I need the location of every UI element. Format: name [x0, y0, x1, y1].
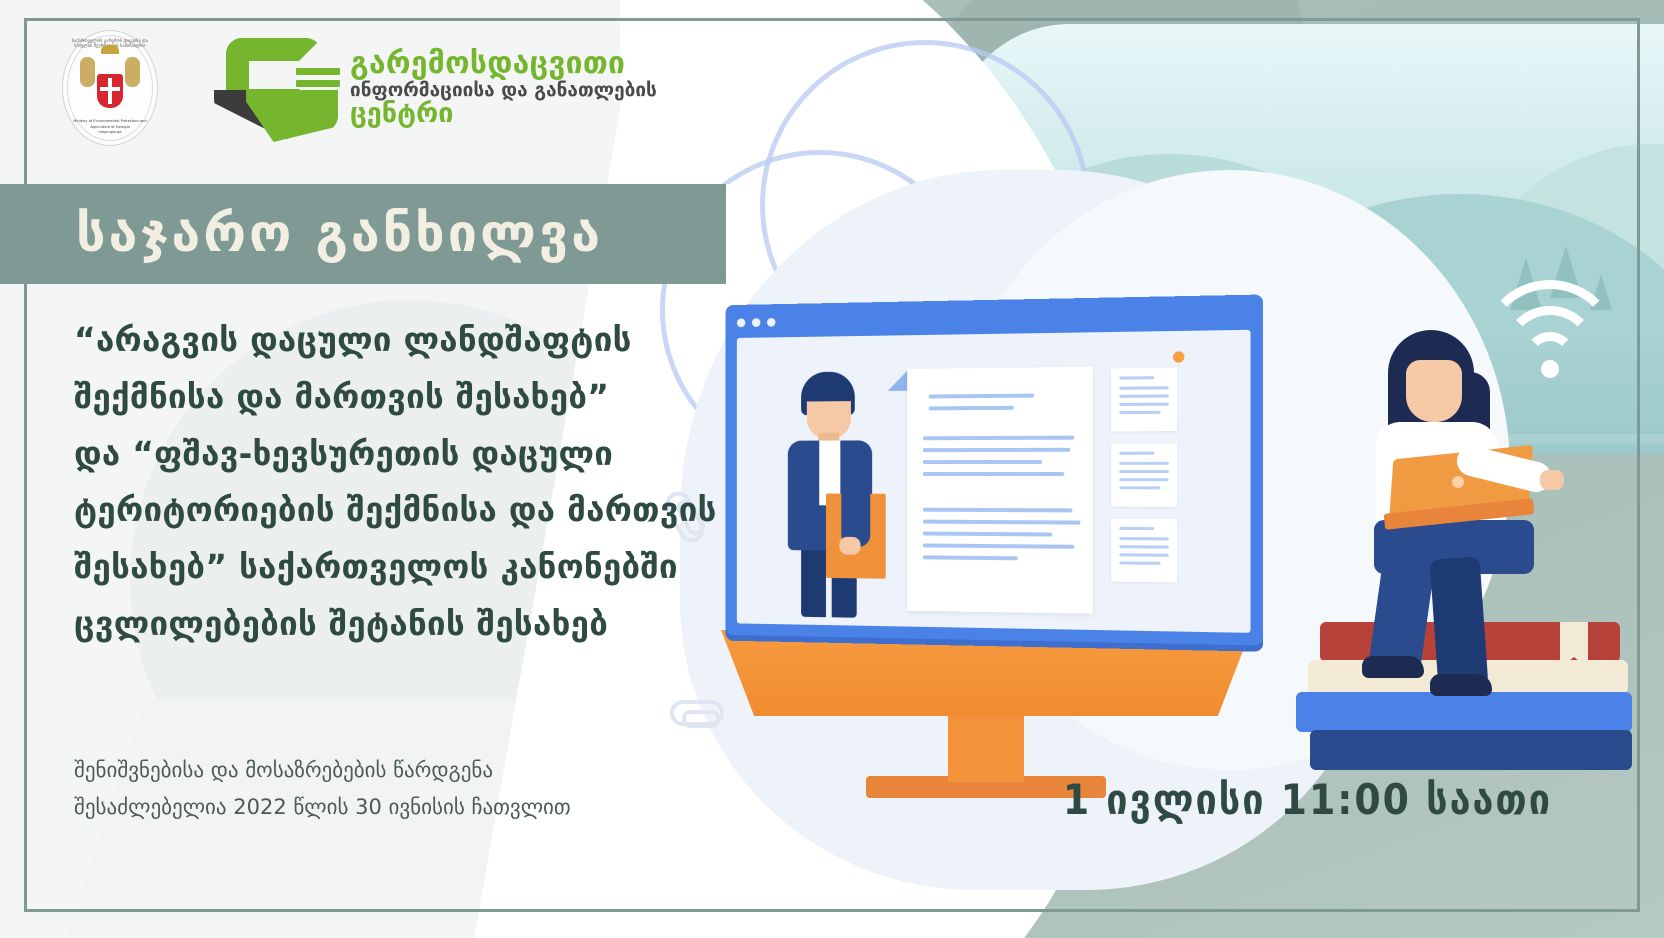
hand-detail — [1540, 470, 1564, 490]
book-item — [1310, 730, 1632, 770]
submission-note: შენიშვნებისა და მოსაზრებების წარდგენა შე… — [74, 752, 714, 826]
document-fold — [888, 369, 909, 391]
eiec-logo-text: გარემოსდაცვითი ინფორმაციისა და განათლები… — [350, 48, 657, 129]
crown-icon — [101, 45, 119, 54]
seal-caption-url: mepa.gov.ge — [73, 130, 147, 135]
coat-of-arms-shield — [97, 74, 123, 108]
eiec-logo: გარემოსდაცვითი ინფორმაციისა და განათლები… — [218, 34, 657, 142]
leg-detail — [1430, 556, 1489, 689]
body-line: ცვლილებების შეტანის შესახებ — [74, 596, 714, 653]
poster-root: საქართველოს გარემოს დაცვისა და სოფლის მე… — [0, 0, 1664, 938]
presenter-figure — [780, 371, 880, 618]
logo-book-green — [246, 90, 338, 142]
title-ribbon: საჯარო განხილვა — [0, 184, 730, 284]
hair-detail — [803, 383, 853, 401]
hand-detail — [839, 537, 860, 555]
body-line: შესახებ” საქართველოს კანონებში — [74, 539, 714, 596]
laptop-logo-detail — [1452, 476, 1464, 488]
header-logos: საქართველოს გარემოს დაცვისა და სოფლის მე… — [62, 30, 657, 146]
status-dot — [1173, 351, 1184, 362]
face-detail — [1406, 360, 1462, 422]
lion-figure-icon — [80, 57, 95, 87]
body-line: ტერიტორიების შექმნისა და მართვის — [74, 482, 714, 539]
eiec-logo-mark-icon — [218, 34, 336, 142]
seal-caption: Ministry of Environmental Protection and… — [63, 119, 157, 135]
monitor-neck — [948, 712, 1024, 782]
side-card — [1111, 443, 1177, 506]
logo-line-2: ინფორმაციისა და განათლების — [350, 80, 657, 100]
arm-detail — [841, 466, 870, 547]
body-line: შექმნისა და მართვის შესახებ” — [74, 369, 714, 426]
book-item — [1296, 692, 1632, 732]
body-text-block: “არაგვის დაცული ლანდშაფტის შექმნისა და მ… — [74, 312, 714, 653]
monitor-screen — [726, 294, 1264, 645]
screen-content — [737, 330, 1251, 633]
side-card — [1111, 368, 1177, 432]
woman-with-laptop — [1360, 330, 1660, 660]
document-sheet — [907, 367, 1093, 614]
seal-caption-en: Ministry of Environmental Protection and… — [73, 119, 147, 129]
window-titlebar — [737, 312, 880, 330]
event-datetime: 1 ივლისი 11:00 საათი — [1063, 775, 1552, 824]
page-title: საჯარო განხილვა — [76, 204, 603, 264]
shoe-detail — [1430, 674, 1492, 696]
desktop-monitor — [716, 300, 1256, 720]
note-line-1: შენიშვნებისა და მოსაზრებების წარდგენა — [74, 752, 714, 789]
body-line: და “ფშავ-ხევსურეთის დაცული — [74, 426, 714, 483]
ministry-seal: საქართველოს გარემოს დაცვისა და სოფლის მე… — [62, 30, 158, 146]
logo-line-3: ცენტრი — [350, 100, 657, 129]
note-line-2: შესაძლებელია 2022 წლის 30 ივნისის ჩათვლი… — [74, 789, 714, 826]
shoe-detail — [1362, 656, 1424, 678]
body-line: “არაგვის დაცული ლანდშაფტის — [74, 312, 714, 369]
side-card — [1111, 519, 1177, 583]
logo-bars — [296, 68, 340, 92]
lion-figure-icon — [125, 57, 140, 87]
logo-line-1: გარემოსდაცვითი — [350, 48, 657, 80]
